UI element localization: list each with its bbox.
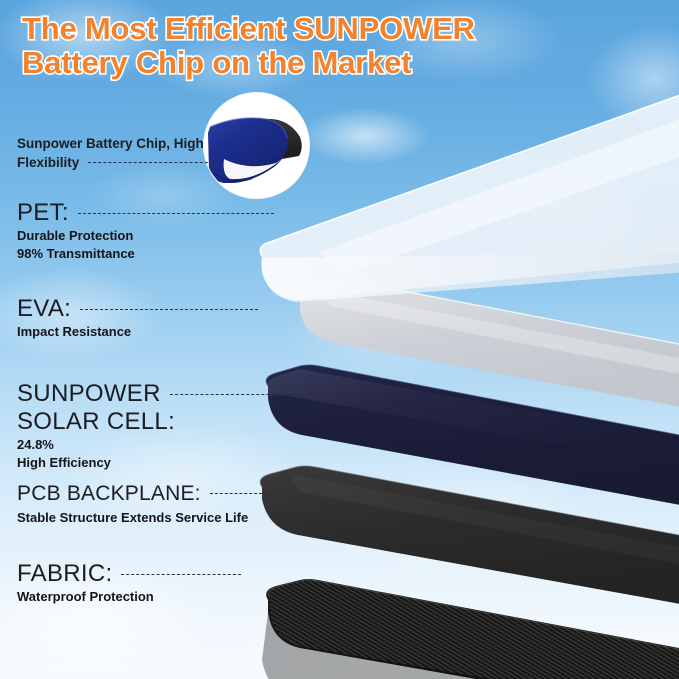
callout-pcb-backplane-sub-1: Stable Structure Extends Service Life [17,509,306,527]
callout-solar-cell-head-line-1: SUNPOWER [17,380,161,408]
callout-pcb-backplane: PCB BACKPLANE: Stable Structure Extends … [17,481,306,527]
leader-line-fabric [121,574,241,575]
title-line-1: The Most Efficient SUNPOWER [22,12,475,46]
callout-pet-sub-1: Durable Protection [17,227,274,245]
leader-line-flexibility [88,162,218,163]
callout-flexibility-head-line-2: Flexibility [17,153,79,172]
callout-pcb-backplane-heading: PCB BACKPLANE: [17,481,201,506]
flexible-chip-closeup-inset [204,93,309,198]
callout-solar-cell: SUNPOWER SOLAR CELL: 24.8% High Efficien… [17,380,300,471]
callout-pet-sub-2: 98% Transmittance [17,245,274,263]
callout-solar-cell-sub-2: High Efficiency [17,454,300,472]
page-title: The Most Efficient SUNPOWER Battery Chip… [22,12,475,80]
callout-eva-sub-1: Impact Resistance [17,323,258,341]
callout-solar-cell-head-line-2: SOLAR CELL: [17,408,300,436]
callout-fabric-heading: FABRIC: [17,560,112,588]
callout-solar-cell-efficiency-value: 24.8% [17,436,300,454]
title-line-2: Battery Chip on the Market [22,46,475,80]
fabric-layer [262,579,679,679]
callout-flexibility: Sunpower Battery Chip, High Flexibility [17,134,218,172]
callout-eva: EVA: Impact Resistance [17,295,258,341]
pet-layer [260,70,679,310]
leader-line-pet [78,213,274,214]
leader-line-pcb-backplane [210,493,306,494]
leader-line-solar-cell [170,394,300,395]
callout-flexibility-heading: Sunpower Battery Chip, High Flexibility [17,134,218,172]
callout-fabric: FABRIC: Waterproof Protection [17,560,241,606]
callout-eva-heading: EVA: [17,295,71,323]
callout-pet: PET: Durable Protection 98% Transmittanc… [17,199,274,262]
callout-pet-heading: PET: [17,199,69,227]
product-infographic-poster: The Most Efficient SUNPOWER Battery Chip… [0,0,679,679]
leader-line-eva [80,309,258,310]
flexed-panel-illustration [204,93,309,198]
callout-fabric-sub-1: Waterproof Protection [17,588,241,606]
callout-flexibility-head-line-1: Sunpower Battery Chip, High [17,134,218,153]
